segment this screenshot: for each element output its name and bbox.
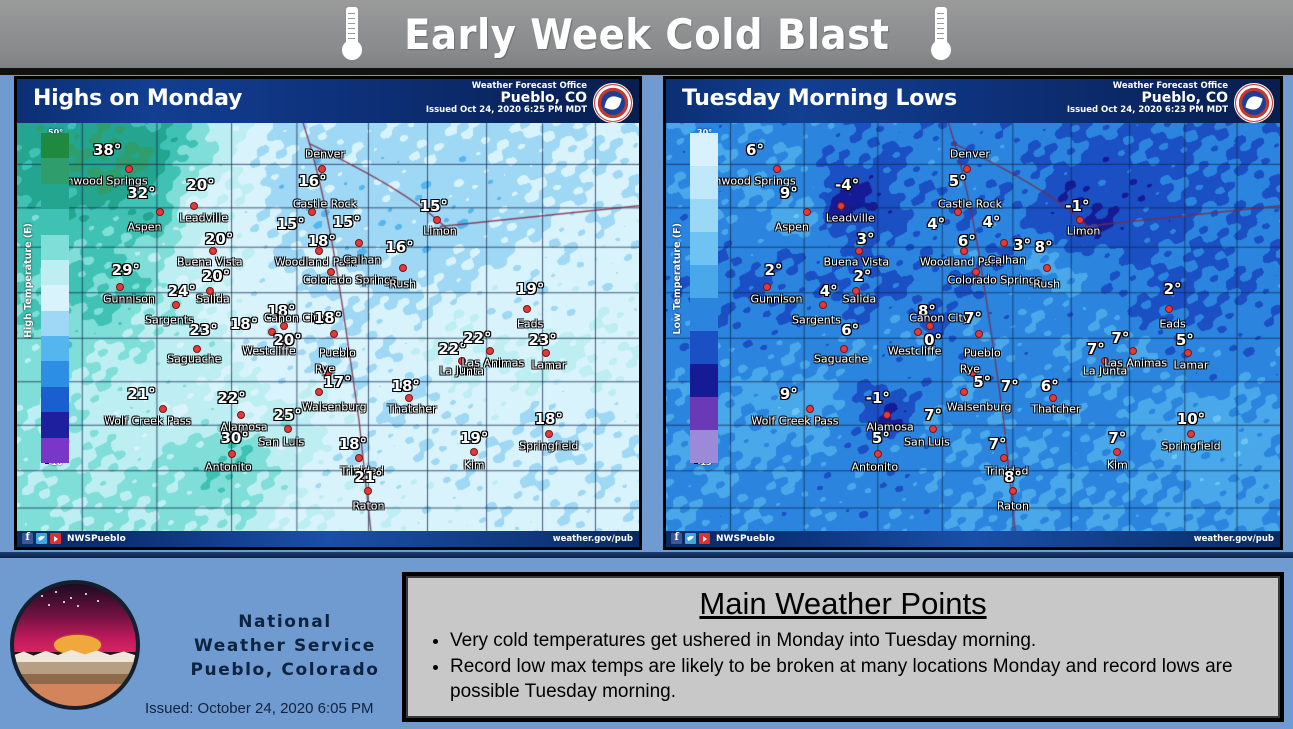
station-marker [929, 425, 937, 433]
noaa-logo [1234, 83, 1274, 123]
map-title-right: Tuesday Morning Lows [682, 86, 957, 111]
city-label: Denver [950, 148, 990, 161]
station-marker [125, 165, 133, 173]
temperature-label: 15° [276, 215, 304, 233]
twitter-icon[interactable] [36, 533, 47, 544]
temperature-label: 5° [1176, 331, 1194, 349]
temperature-label: 16° [298, 172, 326, 190]
city-label: Calhan [988, 253, 1026, 266]
temperature-label: 25° [273, 406, 301, 424]
station-marker [193, 345, 201, 353]
temperature-label: 30° [221, 429, 249, 447]
facebook-icon[interactable] [22, 533, 33, 544]
temperature-label: 18° [308, 232, 336, 250]
temperature-label: -1° [1065, 197, 1089, 215]
temperature-label: -4° [835, 176, 859, 194]
temperature-label: -1° [866, 389, 890, 407]
issued-label-left: Issued Oct 24, 2020 6:25 PM MDT [426, 106, 587, 115]
station-marker [470, 448, 478, 456]
city-label: Calhan [343, 253, 381, 266]
temperature-label: 9° [780, 184, 798, 202]
station-marker [773, 165, 781, 173]
noaa-logo [593, 83, 633, 123]
city-label: Colorado Springs [303, 274, 397, 287]
main-weather-points-box: Main Weather Points Very cold temperatur… [402, 572, 1284, 722]
weather-points-list: Very cold temperatures get ushered in Mo… [424, 628, 1262, 704]
temperature-label: 8° [1004, 468, 1022, 486]
colorbar-title-right: Low Temperature (F) [672, 223, 683, 334]
city-label: Wolf Creek Pass [104, 415, 191, 428]
station-marker [209, 247, 217, 255]
map-header-left: Highs on Monday Weather Forecast Office … [17, 79, 639, 123]
temperature-label: 20° [202, 267, 230, 285]
city-label: Saguache [167, 352, 221, 365]
temperature-label: 38° [93, 141, 121, 159]
map-title-left: Highs on Monday [33, 86, 242, 111]
city-label: Limon [423, 224, 457, 237]
title-divider [0, 68, 1293, 75]
city-label: Saguache [814, 352, 868, 365]
temperature-label: 7° [964, 309, 982, 327]
station-marker [172, 301, 180, 309]
city-label: Denver [305, 148, 345, 161]
city-label: Leadville [179, 212, 228, 225]
brand-line-2: Weather Service [150, 634, 420, 658]
temperature-label: 7° [1087, 340, 1105, 358]
city-label: Kim [464, 458, 485, 471]
social-handle-right: NWSPueblo [716, 534, 775, 544]
city-label: Pueblo [964, 346, 1001, 359]
footer-url-right: weather.gov/pub [1194, 534, 1274, 544]
station-marker [840, 345, 848, 353]
station-marker [874, 450, 882, 458]
station-marker [542, 349, 550, 357]
city-label: Rush [1033, 278, 1060, 291]
city-label: Eads [1159, 317, 1185, 330]
temperature-label: 16° [385, 238, 413, 256]
city-label: Las Animas [1104, 357, 1167, 370]
city-label: Gunnison [751, 292, 803, 305]
temperature-label: 7° [1108, 429, 1126, 447]
colorbar-title-left: High Temperature (F) [23, 223, 34, 338]
station-marker [803, 208, 811, 216]
station-marker [1043, 264, 1051, 272]
youtube-icon[interactable] [699, 533, 710, 544]
city-label: Thatcher [387, 402, 436, 415]
panel-divider [0, 552, 1293, 558]
city-label: Aspen [128, 220, 162, 233]
temperature-label: 8° [1035, 238, 1053, 256]
city-label: Walsenburg [302, 400, 367, 413]
temperature-label: 4° [982, 213, 1000, 231]
station-marker [883, 411, 891, 419]
temperature-label: 5° [973, 373, 991, 391]
map-body-left[interactable]: High Temperature (F) 50°45°40°35°30°25°2… [17, 123, 639, 531]
temperature-label: 7° [1001, 377, 1019, 395]
footer-url-left: weather.gov/pub [553, 534, 633, 544]
city-label: Eads [517, 317, 543, 330]
station-marker [852, 287, 860, 295]
station-marker [960, 388, 968, 396]
city-label: San Luis [258, 435, 304, 448]
map-header-right: Tuesday Morning Lows Weather Forecast Of… [666, 79, 1280, 123]
station-marker [1000, 454, 1008, 462]
city-label: Springfield [519, 439, 578, 452]
city-label: Walsenburg [947, 400, 1012, 413]
station-marker [364, 487, 372, 495]
temperature-label: 7° [924, 406, 942, 424]
social-links-right[interactable]: NWSPueblo [671, 533, 775, 544]
temperature-label: 20° [205, 230, 233, 248]
temperature-label: 7° [989, 435, 1007, 453]
issued-label-right: Issued Oct 24, 2020 6:23 PM MDT [1067, 106, 1228, 115]
temperature-label: 19° [516, 280, 544, 298]
station-marker [284, 425, 292, 433]
temperature-label: 21° [127, 385, 155, 403]
temperature-label: 5° [872, 429, 890, 447]
temperature-label: 22° [217, 389, 245, 407]
station-marker [190, 202, 198, 210]
station-marker [837, 202, 845, 210]
station-marker [523, 305, 531, 313]
brand-line-3: Pueblo, Colorado [150, 658, 420, 682]
city-label: Lamar [531, 359, 566, 372]
city-label: Antonito [851, 460, 898, 473]
temperature-label: 17° [323, 373, 351, 391]
station-marker [545, 430, 553, 438]
social-links-left[interactable]: NWSPueblo [22, 533, 126, 544]
temperature-label: 23° [189, 321, 217, 339]
temperature-label: 18° [339, 435, 367, 453]
station-marker [1129, 347, 1137, 355]
temperature-label: 10° [1177, 410, 1205, 428]
temperature-label: 18° [392, 377, 420, 395]
temperature-label: 2° [854, 267, 872, 285]
brand-line-1: National [150, 610, 420, 634]
temperature-label: 6° [841, 321, 859, 339]
temperature-label: 2° [764, 261, 782, 279]
city-label: Canon City [909, 311, 969, 324]
city-label: Wolf Creek Pass [751, 415, 838, 428]
thermometer-icon [339, 7, 365, 61]
weather-graphic: Early Week Cold Blast Highs on Monday We… [0, 0, 1293, 729]
temperature-label: 29° [112, 261, 140, 279]
city-label: Leadville [826, 212, 875, 225]
station-marker [156, 208, 164, 216]
station-marker [315, 388, 323, 396]
station-marker [330, 330, 338, 338]
temperature-label: 22° [463, 329, 491, 347]
map-panel-highs-monday[interactable]: Highs on Monday Weather Forecast Office … [14, 76, 642, 550]
station-marker [763, 283, 771, 291]
temperature-label: 32° [127, 184, 155, 202]
city-label: Raton [352, 499, 384, 512]
wfo-city-left: Pueblo, CO [426, 91, 587, 106]
station-marker [159, 405, 167, 413]
city-label: Springfield [1161, 439, 1220, 452]
city-label: Thatcher [1031, 402, 1080, 415]
temperature-label: 4° [820, 282, 838, 300]
temperature-label: 15° [420, 197, 448, 215]
temperature-label: 15° [332, 213, 360, 231]
station-marker [399, 264, 407, 272]
page-title: Early Week Cold Blast [404, 10, 889, 59]
wfo-city-right: Pueblo, CO [1067, 91, 1228, 106]
temperature-label: 4° [927, 215, 945, 233]
temperature-label: 5° [949, 172, 967, 190]
station-marker [1165, 305, 1173, 313]
map-body-right[interactable]: Low Temperature (F) 30°25°20°15°10°5°0°-… [666, 123, 1280, 531]
station-marker [1076, 216, 1084, 224]
temperature-label: 23° [528, 331, 556, 349]
temperature-label: 2° [1164, 280, 1182, 298]
map-office-block-right: Weather Forecast Office Pueblo, CO Issue… [1067, 82, 1228, 115]
station-marker [1009, 487, 1017, 495]
temperature-label: 21° [354, 468, 382, 486]
city-label: Colorado Springs [948, 274, 1042, 287]
social-handle-left: NWSPueblo [67, 534, 126, 544]
temperature-label: 18° [535, 410, 563, 428]
weather-points-title: Main Weather Points [424, 586, 1262, 622]
city-label: Las Animas [461, 357, 524, 370]
nws-pueblo-sunset-logo [10, 580, 140, 710]
graphic-title-bar: Early Week Cold Blast [0, 0, 1293, 68]
station-marker [237, 411, 245, 419]
station-marker [1187, 430, 1195, 438]
map-panel-tuesday-lows[interactable]: Tuesday Morning Lows Weather Forecast Of… [663, 76, 1283, 550]
station-marker [355, 454, 363, 462]
temperature-label: 19° [460, 429, 488, 447]
temperature-label: 3° [857, 230, 875, 248]
temperature-label: 0° [924, 331, 942, 349]
map-office-block-left: Weather Forecast Office Pueblo, CO Issue… [426, 82, 587, 115]
thermometer-icon-right [928, 7, 954, 61]
temperature-label: 3° [1013, 236, 1031, 254]
city-label: Rush [389, 278, 416, 291]
youtube-icon[interactable] [50, 533, 61, 544]
station-marker [206, 287, 214, 295]
city-label: Aspen [775, 220, 809, 233]
temperature-label: 6° [1041, 377, 1059, 395]
station-marker [1000, 239, 1008, 247]
temperature-label: 9° [780, 385, 798, 403]
station-marker [355, 239, 363, 247]
weather-point-item: Record low max temps are likely to be br… [450, 654, 1262, 704]
city-label: Limon [1067, 224, 1101, 237]
station-marker [914, 328, 922, 336]
temperature-label: 6° [746, 141, 764, 159]
temperature-label: 18° [230, 315, 258, 333]
weather-point-item: Very cold temperatures get ushered in Mo… [450, 628, 1262, 653]
map-footer-right: NWSPueblo weather.gov/pub [666, 531, 1280, 547]
city-label: Lamar [1174, 359, 1209, 372]
city-label: Sargents [792, 313, 841, 326]
station-marker [819, 301, 827, 309]
city-label: Salida [196, 292, 230, 305]
city-label: Antonito [205, 460, 252, 473]
temperature-label: 24° [168, 282, 196, 300]
station-marker [405, 394, 413, 402]
station-marker [1049, 394, 1057, 402]
temperature-label: 20° [186, 176, 214, 194]
city-label: Kim [1107, 458, 1128, 471]
temperature-label: 7° [1111, 329, 1129, 347]
city-label: Castle Rock [938, 197, 1002, 210]
issued-timestamp: Issued: October 24, 2020 6:05 PM [145, 700, 373, 717]
station-marker [433, 216, 441, 224]
city-label: Salida [843, 292, 877, 305]
station-marker [806, 405, 814, 413]
station-marker [855, 247, 863, 255]
temperature-label: 6° [958, 232, 976, 250]
twitter-icon[interactable] [685, 533, 696, 544]
city-label: Pueblo [319, 346, 356, 359]
facebook-icon[interactable] [671, 533, 682, 544]
city-label: Raton [997, 499, 1029, 512]
nws-branding-text: National Weather Service Pueblo, Colorad… [150, 610, 420, 682]
station-marker [1184, 349, 1192, 357]
station-marker [1113, 448, 1121, 456]
station-marker [116, 283, 124, 291]
station-marker [228, 450, 236, 458]
city-label: San Luis [904, 435, 950, 448]
temperature-label: 20° [273, 331, 301, 349]
temperature-label: 18° [314, 309, 342, 327]
map-footer-left: NWSPueblo weather.gov/pub [17, 531, 639, 547]
station-marker [975, 330, 983, 338]
city-label: Castle Rock [293, 197, 357, 210]
city-label: Gunnison [103, 292, 155, 305]
city-label: Sargents [145, 313, 194, 326]
station-marker [486, 347, 494, 355]
